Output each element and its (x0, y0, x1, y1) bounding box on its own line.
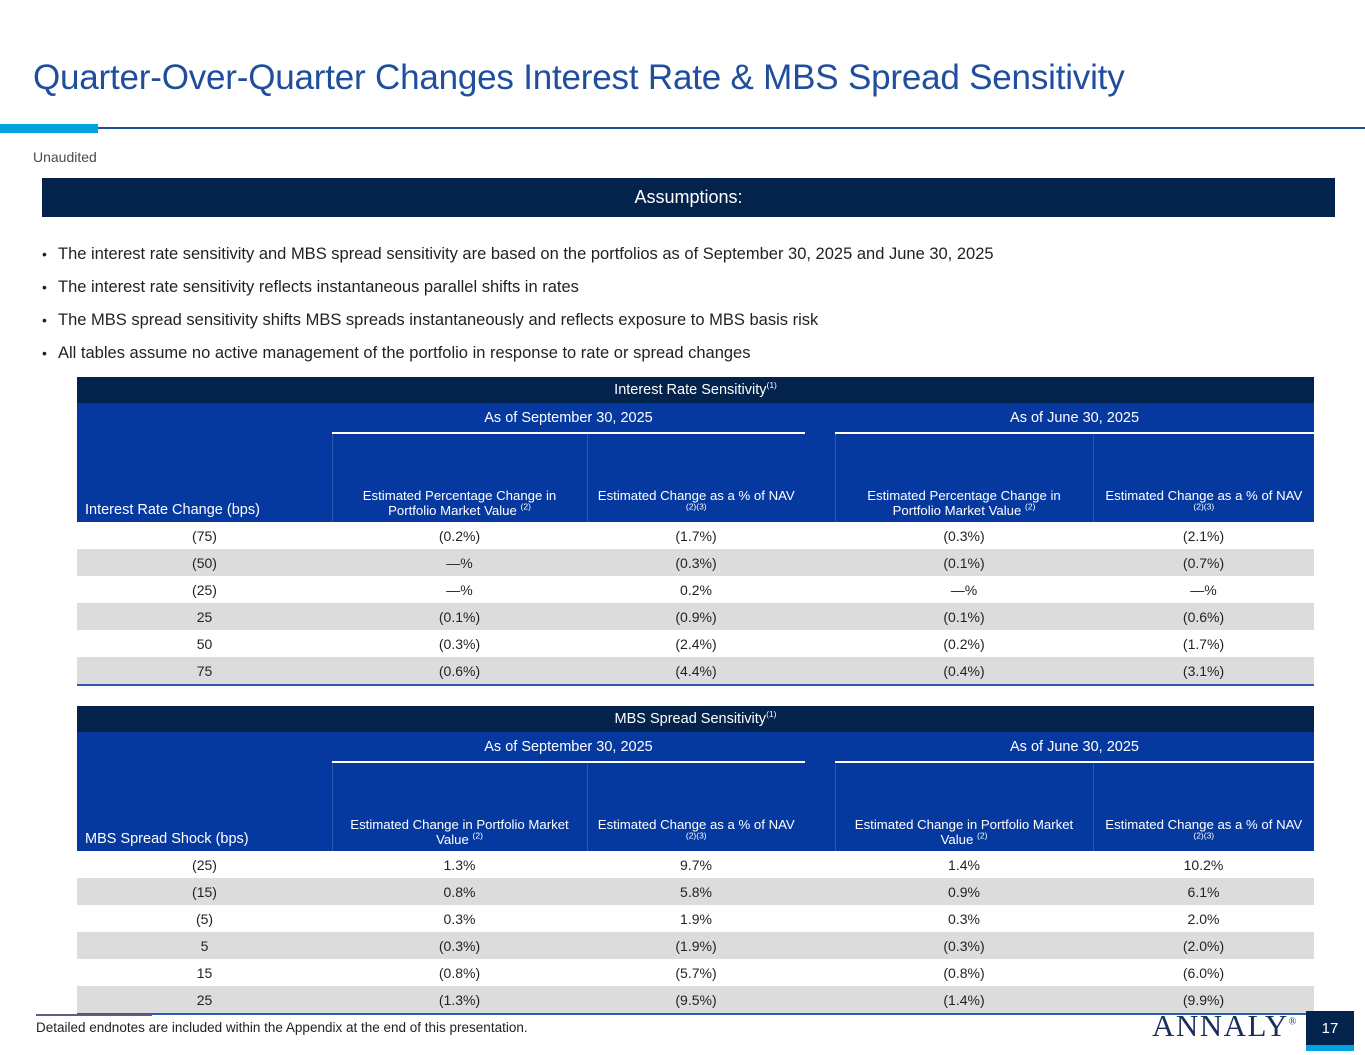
cell-value: (0.7%) (1093, 549, 1314, 576)
title-divider (0, 124, 1365, 134)
table-title-row: MBS Spread Sensitivity(1) (77, 706, 1314, 732)
cell-row-label: (15) (77, 878, 332, 905)
footnote-text: Detailed endnotes are included within th… (36, 1020, 528, 1035)
table-title: Interest Rate Sensitivity (614, 382, 766, 398)
cell-value: 1.9% (587, 905, 805, 932)
column-header-footnote: (2)(3) (1193, 502, 1214, 512)
cell-row-label: (25) (77, 576, 332, 603)
table-row: (5) 0.3% 1.9% 0.3% 2.0% (77, 905, 1314, 932)
table-row: (75) (0.2%) (1.7%) (0.3%) (2.1%) (77, 522, 1314, 549)
cell-value: (0.6%) (1093, 603, 1314, 630)
group-header-gap (805, 403, 835, 433)
table-group-header-row: As of September 30, 2025 As of June 30, … (77, 732, 1314, 762)
cell-row-label: 25 (77, 986, 332, 1014)
table-title-footnote: (1) (766, 709, 776, 719)
group-header-gap (805, 732, 835, 762)
cell-value: (0.3%) (835, 932, 1093, 959)
cell-value: (0.4%) (835, 657, 1093, 685)
cell-value: 1.3% (332, 851, 587, 878)
mbs-spread-sensitivity-table: MBS Spread Sensitivity(1) As of Septembe… (77, 706, 1314, 1015)
column-header-row-label: Interest Rate Change (bps) (77, 433, 332, 522)
cell-value: (5.7%) (587, 959, 805, 986)
cell-gap (805, 878, 835, 905)
cell-value: 0.3% (835, 905, 1093, 932)
page-title: Quarter-Over-Quarter Changes Interest Ra… (33, 58, 1125, 98)
cell-value: (0.3%) (587, 549, 805, 576)
column-header-sep-nav: Estimated Change as a % of NAV (2)(3) (587, 762, 805, 851)
group-header-jun: As of June 30, 2025 (835, 732, 1314, 762)
table-row: 15 (0.8%) (5.7%) (0.8%) (6.0%) (77, 959, 1314, 986)
cell-value: (9.5%) (587, 986, 805, 1014)
cell-value: (1.3%) (332, 986, 587, 1014)
cell-gap (805, 522, 835, 549)
cell-row-label: 50 (77, 630, 332, 657)
cell-value: —% (1093, 576, 1314, 603)
table-row: (50) —% (0.3%) (0.1%) (0.7%) (77, 549, 1314, 576)
cell-row-label: 75 (77, 657, 332, 685)
page-number: 17 (1322, 1020, 1339, 1037)
table-title-footnote: (1) (767, 380, 777, 390)
cell-value: (2.4%) (587, 630, 805, 657)
column-header-gap (805, 762, 835, 851)
list-item: The MBS spread sensitivity shifts MBS sp… (42, 304, 1332, 337)
title-accent-bar (0, 124, 98, 133)
unaudited-label: Unaudited (33, 149, 97, 165)
cell-value: (0.2%) (332, 522, 587, 549)
column-header-row-label: MBS Spread Shock (bps) (77, 762, 332, 851)
title-divider-line (0, 127, 1365, 129)
cell-value: 0.8% (332, 878, 587, 905)
cell-value: 0.9% (835, 878, 1093, 905)
column-header-sep-nav: Estimated Change as a % of NAV (2)(3) (587, 433, 805, 522)
cell-value: (0.3%) (332, 932, 587, 959)
cell-row-label: (50) (77, 549, 332, 576)
group-header-sep: As of September 30, 2025 (332, 732, 805, 762)
cell-value: 1.4% (835, 851, 1093, 878)
cell-row-label: 25 (77, 603, 332, 630)
list-item: The interest rate sensitivity reflects i… (42, 271, 1332, 304)
cell-gap (805, 576, 835, 603)
interest-rate-sensitivity-table: Interest Rate Sensitivity(1) As of Septe… (77, 377, 1314, 686)
table-title: MBS Spread Sensitivity (615, 711, 767, 727)
table-column-header-row: Interest Rate Change (bps) Estimated Per… (77, 433, 1314, 522)
table-row: 50 (0.3%) (2.4%) (0.2%) (1.7%) (77, 630, 1314, 657)
cell-row-label: (75) (77, 522, 332, 549)
cell-value: (0.8%) (332, 959, 587, 986)
column-header-jun-pmv: Estimated Change in Portfolio Market Val… (835, 762, 1093, 851)
column-header-text: Estimated Change in Portfolio Market Val… (350, 817, 568, 847)
registered-mark-icon: ® (1289, 1017, 1298, 1028)
cell-value: (0.3%) (332, 630, 587, 657)
column-header-footnote: (2) (473, 831, 483, 841)
cell-value: 10.2% (1093, 851, 1314, 878)
cell-value: —% (332, 576, 587, 603)
list-item: All tables assume no active management o… (42, 337, 1332, 370)
cell-value: (6.0%) (1093, 959, 1314, 986)
footnote-divider (36, 1014, 152, 1016)
column-header-footnote: (2)(3) (686, 831, 707, 841)
cell-value: (3.1%) (1093, 657, 1314, 685)
cell-gap (805, 657, 835, 685)
assumptions-list: The interest rate sensitivity and MBS sp… (42, 238, 1332, 370)
cell-value: 5.8% (587, 878, 805, 905)
group-header-sep: As of September 30, 2025 (332, 403, 805, 433)
cell-gap (805, 630, 835, 657)
column-header-footnote: (2) (977, 831, 987, 841)
cell-value: (0.1%) (332, 603, 587, 630)
cell-value: 9.7% (587, 851, 805, 878)
cell-row-label: (5) (77, 905, 332, 932)
cell-value: (1.9%) (587, 932, 805, 959)
column-header-footnote: (2)(3) (1193, 831, 1214, 841)
table-column-header-row: MBS Spread Shock (bps) Estimated Change … (77, 762, 1314, 851)
cell-row-label: 15 (77, 959, 332, 986)
cell-value: 0.2% (587, 576, 805, 603)
cell-value: —% (835, 576, 1093, 603)
table-row: 25 (0.1%) (0.9%) (0.1%) (0.6%) (77, 603, 1314, 630)
group-header-jun: As of June 30, 2025 (835, 403, 1314, 433)
table-title-row: Interest Rate Sensitivity(1) (77, 377, 1314, 403)
group-header-spacer (77, 403, 332, 433)
cell-value: (0.1%) (835, 603, 1093, 630)
column-header-footnote: (2)(3) (686, 502, 707, 512)
cell-value: (0.3%) (835, 522, 1093, 549)
list-item: The interest rate sensitivity and MBS sp… (42, 238, 1332, 271)
table-row: (25) —% 0.2% —% —% (77, 576, 1314, 603)
cell-gap (805, 932, 835, 959)
page-number-accent-bar (1306, 1045, 1354, 1051)
table-row: 75 (0.6%) (4.4%) (0.4%) (3.1%) (77, 657, 1314, 685)
table-group-header-row: As of September 30, 2025 As of June 30, … (77, 403, 1314, 433)
cell-value: (2.1%) (1093, 522, 1314, 549)
column-header-footnote: (2) (521, 502, 531, 512)
cell-value: (0.9%) (587, 603, 805, 630)
table-row: (25) 1.3% 9.7% 1.4% 10.2% (77, 851, 1314, 878)
column-header-jun-pmv: Estimated Percentage Change in Portfolio… (835, 433, 1093, 522)
cell-value: 2.0% (1093, 905, 1314, 932)
cell-value: (1.4%) (835, 986, 1093, 1014)
cell-gap (805, 986, 835, 1014)
column-header-sep-pmv: Estimated Change in Portfolio Market Val… (332, 762, 587, 851)
cell-row-label: 5 (77, 932, 332, 959)
cell-gap (805, 959, 835, 986)
cell-value: (0.2%) (835, 630, 1093, 657)
column-header-sep-pmv: Estimated Percentage Change in Portfolio… (332, 433, 587, 522)
table-row: 5 (0.3%) (1.9%) (0.3%) (2.0%) (77, 932, 1314, 959)
group-header-spacer (77, 732, 332, 762)
column-header-jun-nav: Estimated Change as a % of NAV (2)(3) (1093, 762, 1314, 851)
cell-value: (0.6%) (332, 657, 587, 685)
cell-value: 0.3% (332, 905, 587, 932)
cell-value: (0.1%) (835, 549, 1093, 576)
column-header-jun-nav: Estimated Change as a % of NAV (2)(3) (1093, 433, 1314, 522)
annaly-logo: ANNALY® (1152, 1008, 1298, 1044)
table-title-cell: MBS Spread Sensitivity(1) (77, 706, 1314, 732)
column-header-gap (805, 433, 835, 522)
cell-gap (805, 851, 835, 878)
cell-gap (805, 603, 835, 630)
cell-value: (2.0%) (1093, 932, 1314, 959)
column-header-text: Estimated Change in Portfolio Market Val… (855, 817, 1073, 847)
cell-value: (1.7%) (587, 522, 805, 549)
cell-value: (0.8%) (835, 959, 1093, 986)
cell-gap (805, 905, 835, 932)
page-number-box: 17 (1306, 1011, 1354, 1045)
table-title-cell: Interest Rate Sensitivity(1) (77, 377, 1314, 403)
cell-value: (1.7%) (1093, 630, 1314, 657)
cell-value: —% (332, 549, 587, 576)
logo-wordmark: ANNALY (1152, 1008, 1289, 1043)
assumptions-banner: Assumptions: (42, 178, 1335, 217)
cell-row-label: (25) (77, 851, 332, 878)
cell-value: 6.1% (1093, 878, 1314, 905)
column-header-footnote: (2) (1025, 502, 1035, 512)
table-row: (15) 0.8% 5.8% 0.9% 6.1% (77, 878, 1314, 905)
cell-gap (805, 549, 835, 576)
table-row: 25 (1.3%) (9.5%) (1.4%) (9.9%) (77, 986, 1314, 1014)
assumptions-heading: Assumptions: (634, 187, 742, 208)
cell-value: (4.4%) (587, 657, 805, 685)
